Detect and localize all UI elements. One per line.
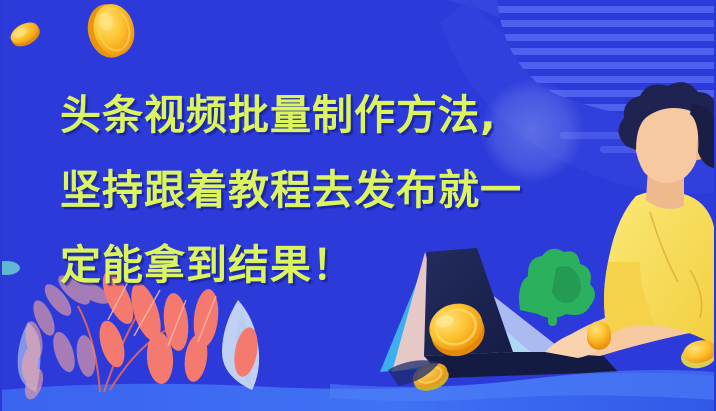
- background-illustration: [0, 0, 716, 411]
- promo-banner: 头条视频批量制作方法, 坚持跟着教程去发布就一 定能拿到结果！: [0, 0, 716, 411]
- decorative-circle: [480, 79, 584, 183]
- frame-edge-left: [0, 0, 2, 411]
- coin-in-hand: [587, 321, 611, 350]
